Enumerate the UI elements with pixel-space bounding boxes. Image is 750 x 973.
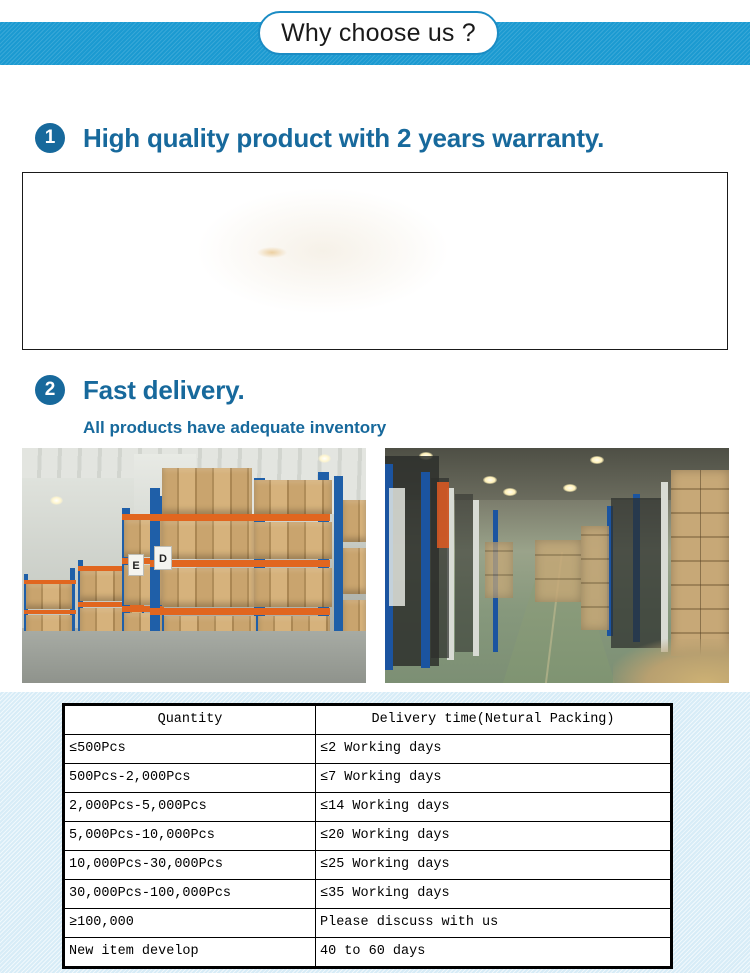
cell-quantity: ≥100,000 [64,909,316,938]
feature-item-2: 2 Fast delivery. All products have adequ… [35,375,386,439]
cell-delivery: ≤25 Working days [316,851,672,880]
cell-quantity: New item develop [64,938,316,968]
warehouse-left-image: E D [22,448,366,683]
product-photo-frame [22,172,728,350]
feature-number-badge-1: 1 [35,123,65,153]
rack-beam [150,608,330,615]
feature-item-1: 1 High quality product with 2 years warr… [35,123,604,153]
box-stack [254,568,332,607]
table-row: 500Pcs-2,000Pcs≤7 Working days [64,764,672,793]
cell-delivery: Please discuss with us [316,909,672,938]
cell-quantity: 10,000Pcs-30,000Pcs [64,851,316,880]
cell-delivery: ≤35 Working days [316,880,672,909]
table-row: 2,000Pcs-5,000Pcs≤14 Working days [64,793,672,822]
cell-quantity: ≤500Pcs [64,735,316,764]
rack-upright [334,476,343,656]
ceiling-lamp-icon [590,456,604,464]
box-stack [26,584,72,609]
cell-delivery: ≤2 Working days [316,735,672,764]
delivery-table-section: Quantity Delivery time(Netural Packing) … [0,692,750,973]
table-header-row: Quantity Delivery time(Netural Packing) [64,705,672,735]
box-stack [254,522,332,559]
cell-quantity: 30,000Pcs-100,000Pcs [64,880,316,909]
cell-delivery: ≤7 Working days [316,764,672,793]
box-stack [162,468,252,514]
aisle-sign-E: E [128,554,144,576]
warehouse-floor [22,631,366,683]
box-stack-far [535,540,581,602]
box-stack [254,480,332,514]
page-title-pill: Why choose us ? [258,11,499,55]
cell-delivery: 40 to 60 days [316,938,672,968]
product-photo-image [23,173,727,349]
box-stack [162,521,254,559]
delivery-table-body: Quantity Delivery time(Netural Packing) … [64,705,672,968]
table-row: 30,000Pcs-100,000Pcs≤35 Working days [64,880,672,909]
column-header-delivery-time: Delivery time(Netural Packing) [316,705,672,735]
table-row: ≤500Pcs≤2 Working days [64,735,672,764]
rack-upright [421,472,430,668]
ceiling-lamp-icon [318,454,331,463]
feature-title-1: High quality product with 2 years warran… [83,123,604,153]
aisle-sign-D: D [154,546,172,570]
box-stack [343,500,366,542]
warehouse-photo-right [385,448,729,683]
delivery-time-table: Quantity Delivery time(Netural Packing) … [62,703,673,969]
rack-beam [150,514,330,521]
cell-delivery: ≤14 Working days [316,793,672,822]
ceiling-lamp-icon [483,476,497,484]
warehouse-right-image [385,448,729,683]
floor-sand-patch [613,639,729,683]
shelf-contents [611,498,661,648]
ceiling-lamp-icon [563,484,577,492]
rack-upright-white [661,482,668,652]
column-header-quantity: Quantity [64,705,316,735]
table-row: New item develop40 to 60 days [64,938,672,968]
rack-beam [24,610,76,614]
ceiling-lamp-icon [50,496,63,505]
box-stack [581,526,609,630]
box-divider [700,470,701,656]
product-photo-smudge [257,247,287,258]
table-row: 10,000Pcs-30,000Pcs≤25 Working days [64,851,672,880]
rack-upright-white [473,500,479,656]
promo-page: Why choose us ? 1 High quality product w… [0,0,750,973]
cell-quantity: 500Pcs-2,000Pcs [64,764,316,793]
feature-subtitle-2: All products have adequate inventory [83,417,386,439]
box-stack-far [485,542,513,598]
cell-quantity: 2,000Pcs-5,000Pcs [64,793,316,822]
table-row: 5,000Pcs-10,000Pcs≤20 Working days [64,822,672,851]
feature-text-2: Fast delivery. All products have adequat… [83,375,386,439]
paper-labels [389,488,405,606]
table-row: ≥100,000Please discuss with us [64,909,672,938]
warehouse-photo-left: E D [22,448,366,683]
feature-number-badge-2: 2 [35,375,65,405]
feature-title-2: Fast delivery. [83,375,386,405]
cell-quantity: 5,000Pcs-10,000Pcs [64,822,316,851]
orange-items [437,482,449,548]
page-title: Why choose us ? [281,19,476,48]
feature-text-1: High quality product with 2 years warran… [83,123,604,153]
ceiling-lamp-icon [503,488,517,496]
rack-beam [150,560,330,567]
box-stack [162,568,254,607]
cell-delivery: ≤20 Working days [316,822,672,851]
box-stack [343,548,366,594]
shelf-contents [455,494,473,652]
